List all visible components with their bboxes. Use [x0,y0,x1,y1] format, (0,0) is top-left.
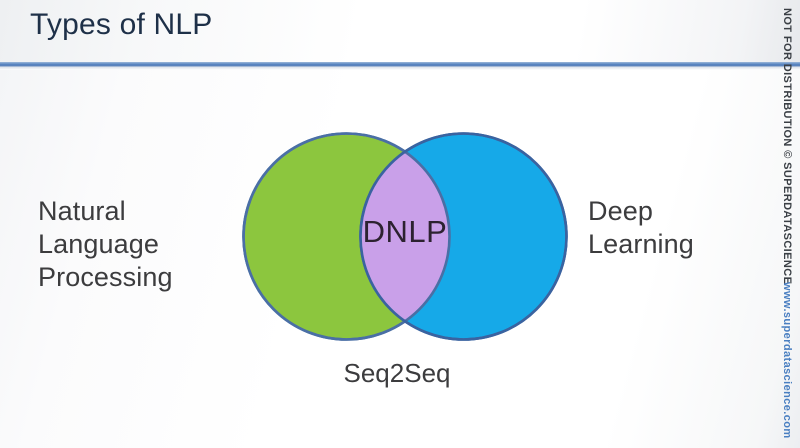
watermark-url[interactable]: www.superdatascience.com [781,282,793,439]
label-seq2seq-text: Seq2Seq [344,358,451,388]
label-nlp-line-3: Processing [38,261,173,294]
slide-canvas: Types of NLP [0,0,800,448]
label-dl-line-1: Deep [588,195,694,228]
label-dl-line-2: Learning [588,228,694,261]
venn-diagram: DNLP DNLP [230,110,580,370]
label-seq2seq: Seq2Seq [0,358,800,389]
venn-intersection-label: DNLP [230,214,580,250]
watermark-notice: NOT FOR DISTRIBUTION © SUPERDATASCIENCE [781,8,793,284]
label-nlp-line-2: Language [38,228,173,261]
page-title: Types of NLP [30,8,213,42]
watermark: NOT FOR DISTRIBUTION © SUPERDATASCIENCE … [774,0,800,448]
label-natural-language-processing: Natural Language Processing [38,195,173,294]
label-deep-learning: Deep Learning [588,195,694,261]
label-nlp-line-1: Natural [38,195,173,228]
